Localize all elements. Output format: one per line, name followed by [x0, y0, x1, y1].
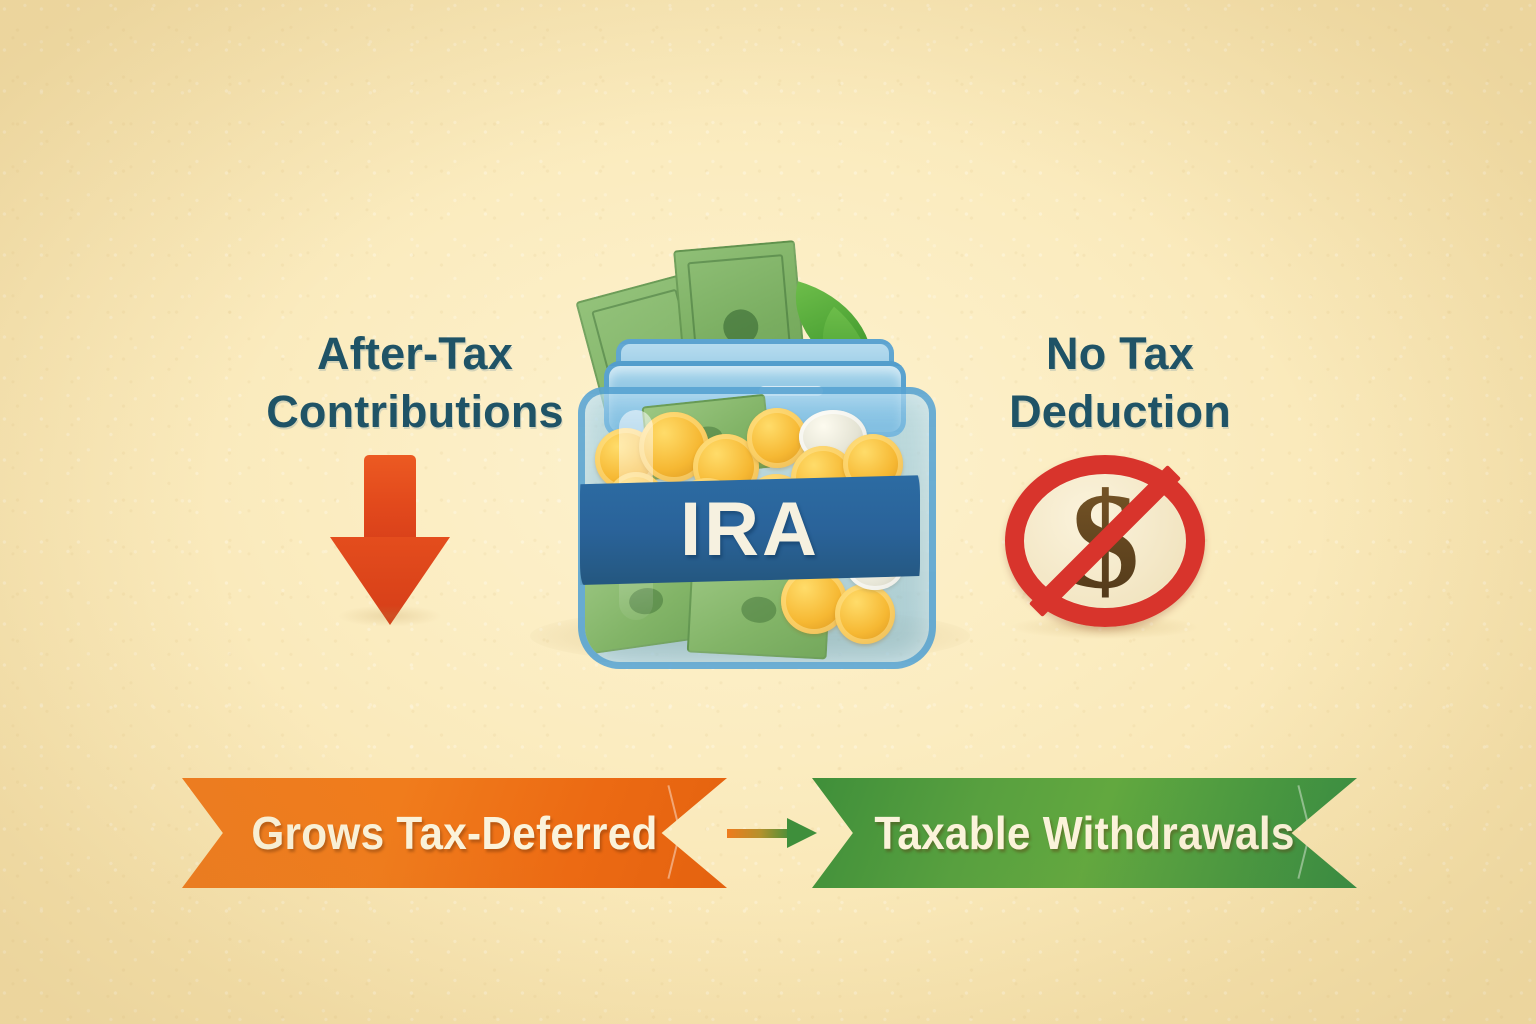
heading-left-line1: After-Tax [245, 325, 585, 383]
ira-jar-illustration: IRA [560, 235, 940, 705]
heading-right-line2: Deduction [965, 383, 1275, 441]
ribbon-taxable-withdrawals[interactable]: Taxable Withdrawals [812, 778, 1357, 888]
connector-arrowhead [787, 818, 817, 848]
ira-label: IRA [580, 473, 920, 585]
ira-label-text: IRA [680, 486, 820, 573]
gold-coin-icon [835, 584, 895, 644]
connector-line [727, 829, 793, 838]
right-arrow-icon [727, 818, 817, 848]
heading-after-tax-contributions: After-Tax Contributions [245, 325, 585, 440]
ribbon-grows-tax-deferred-label: Grows Tax-Deferred [204, 806, 705, 860]
heading-right-line1: No Tax [965, 325, 1275, 383]
heading-no-tax-deduction: No Tax Deduction [965, 325, 1275, 440]
down-arrow-shadow [338, 605, 442, 627]
ribbon-taxable-withdrawals-label: Taxable Withdrawals [834, 806, 1335, 860]
heading-left-line2: Contributions [245, 383, 585, 441]
no-dollar-sign-icon: $ [1005, 455, 1205, 627]
down-arrow-icon [330, 455, 450, 625]
infographic-canvas: After-Tax Contributions No Tax Deduction… [0, 0, 1536, 1024]
down-arrow-shaft [364, 455, 416, 547]
ribbon-grows-tax-deferred[interactable]: Grows Tax-Deferred [182, 778, 727, 888]
